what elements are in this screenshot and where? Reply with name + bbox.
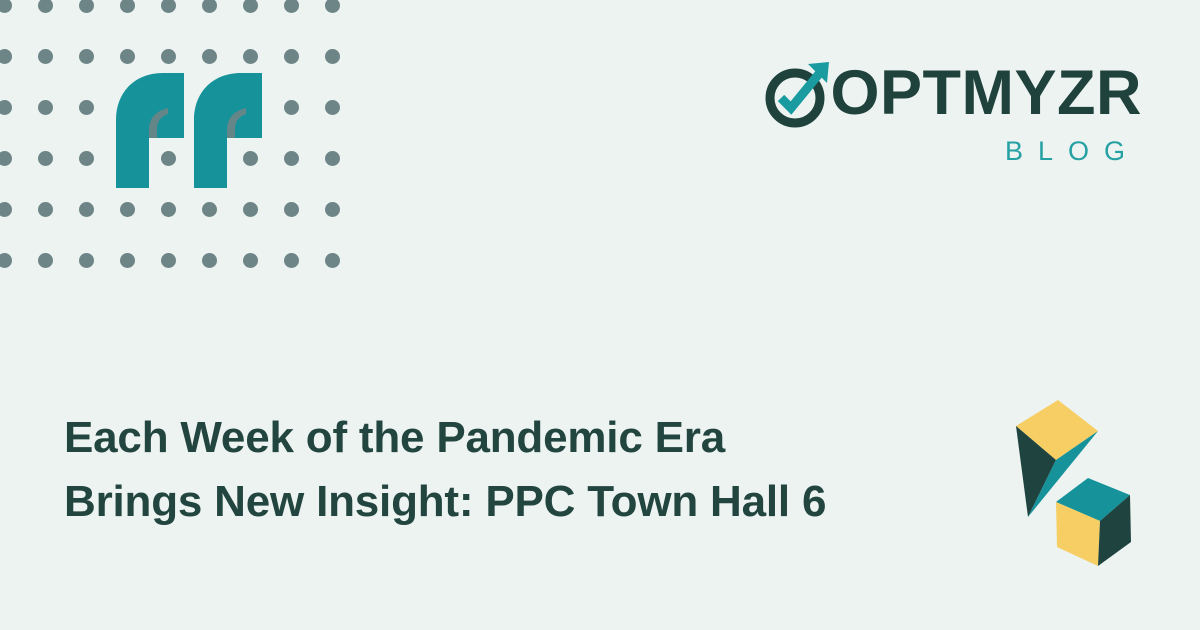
- grid-dot: [161, 253, 176, 268]
- grid-dot: [284, 100, 299, 115]
- grid-dot: [120, 49, 135, 64]
- grid-dot: [38, 49, 53, 64]
- grid-dot: [284, 151, 299, 166]
- grid-dot: [243, 49, 258, 64]
- grid-dot: [0, 202, 12, 217]
- grid-dot: [202, 49, 217, 64]
- grid-dot: [325, 151, 340, 166]
- grid-dot: [243, 253, 258, 268]
- logo-wordmark-row: OPTMYZR: [812, 56, 1142, 130]
- grid-dot: [38, 202, 53, 217]
- isometric-shapes-graphic: [1000, 390, 1170, 570]
- grid-dot: [325, 253, 340, 268]
- grid-dot: [38, 0, 53, 13]
- brand-logo[interactable]: OPTMYZR BLOG: [812, 56, 1142, 167]
- grid-dot: [38, 151, 53, 166]
- grid-dot: [325, 202, 340, 217]
- grid-dot: [38, 253, 53, 268]
- grid-dot: [202, 0, 217, 13]
- grid-dot: [161, 0, 176, 13]
- target-check-arrow-icon: [761, 56, 835, 130]
- grid-dot: [120, 253, 135, 268]
- grid-dot: [79, 253, 94, 268]
- grid-dot: [0, 49, 12, 64]
- grid-dot: [243, 202, 258, 217]
- logo-wordmark-text: OPTMYZR: [831, 56, 1143, 130]
- grid-dot: [79, 202, 94, 217]
- grid-dot: [243, 0, 258, 13]
- grid-dot: [79, 49, 94, 64]
- grid-dot: [120, 0, 135, 13]
- grid-dot: [0, 0, 12, 13]
- grid-dot: [79, 100, 94, 115]
- article-title: Each Week of the Pandemic Era Brings New…: [64, 406, 854, 534]
- grid-dot: [0, 253, 12, 268]
- grid-dot: [120, 202, 135, 217]
- quotation-mark-icon: [116, 73, 262, 188]
- cube-shape: [1056, 478, 1131, 566]
- social-share-card: OPTMYZR BLOG Each Week of the Pandemic E…: [0, 0, 1200, 630]
- grid-dot: [79, 0, 94, 13]
- grid-dot: [38, 100, 53, 115]
- grid-dot: [79, 151, 94, 166]
- logo-sub-label: BLOG: [812, 136, 1142, 167]
- grid-dot: [202, 202, 217, 217]
- grid-dot: [161, 202, 176, 217]
- grid-dot: [0, 100, 12, 115]
- grid-dot: [284, 0, 299, 13]
- grid-dot: [161, 49, 176, 64]
- grid-dot: [325, 100, 340, 115]
- grid-dot: [0, 151, 12, 166]
- grid-dot: [325, 49, 340, 64]
- grid-dot: [284, 253, 299, 268]
- grid-dot: [284, 49, 299, 64]
- grid-dot: [284, 202, 299, 217]
- grid-dot: [325, 0, 340, 13]
- grid-dot: [202, 253, 217, 268]
